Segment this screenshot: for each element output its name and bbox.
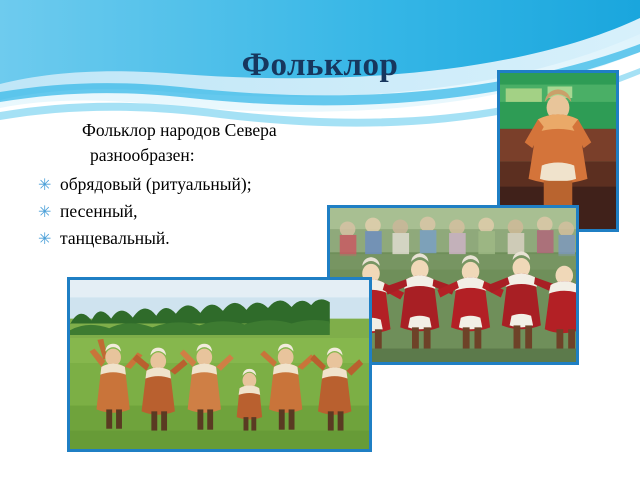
asterisk-bullet-icon: ✳ — [38, 227, 51, 250]
list-item-label: танцевальный. — [60, 228, 170, 248]
list-item-label: песенный, — [60, 201, 138, 221]
lead-line-1: Фольклор народов Севера — [82, 120, 277, 140]
lead-paragraph: Фольклор народов Севера разнообразен: — [36, 118, 456, 168]
slide: Фольклор Фольклор народов Севера разнооб… — [0, 0, 640, 480]
asterisk-bullet-icon: ✳ — [38, 200, 51, 223]
photo-field-dance-image — [70, 280, 369, 449]
photo-field-dance — [67, 277, 372, 452]
list-item-label: обрядовый (ритуальный); — [60, 174, 252, 194]
asterisk-bullet-icon: ✳ — [38, 173, 51, 196]
lead-line-2: разнообразен: — [82, 143, 456, 168]
list-item: ✳ обрядовый (ритуальный); — [36, 172, 456, 197]
